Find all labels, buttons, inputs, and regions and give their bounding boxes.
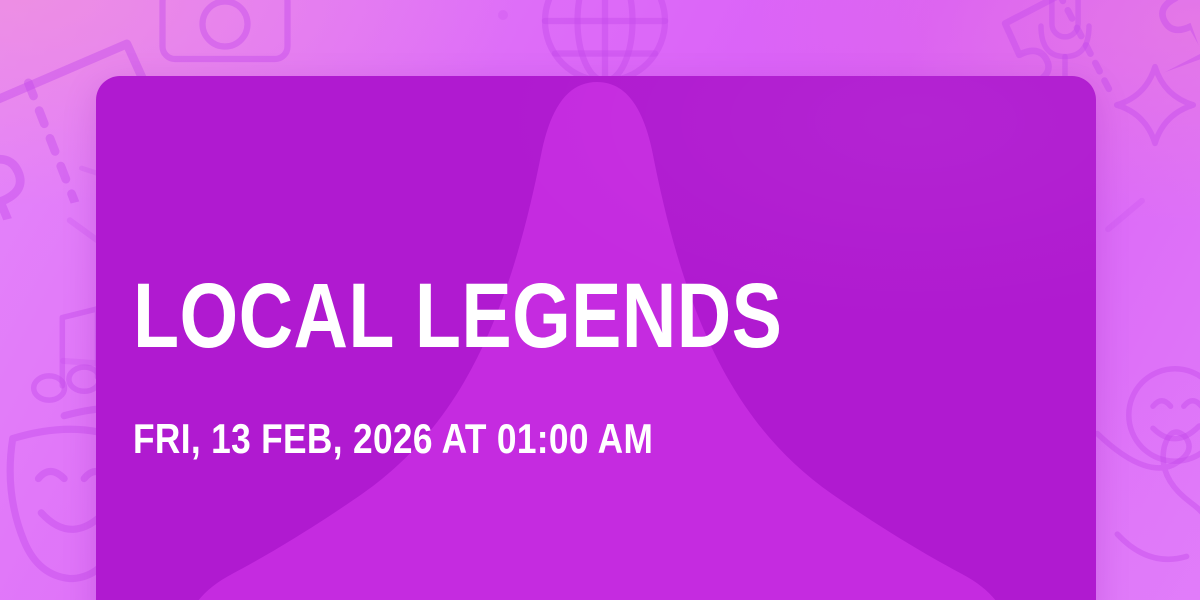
event-datetime: FRI, 13 FEB, 2026 AT 01:00 AM <box>133 418 653 460</box>
event-title: LOCAL LEGENDS <box>133 274 782 359</box>
event-banner: LOCAL LEGENDS FRI, 13 FEB, 2026 AT 01:00… <box>0 0 1200 600</box>
event-card[interactable]: LOCAL LEGENDS FRI, 13 FEB, 2026 AT 01:00… <box>96 76 1096 600</box>
event-text-block: LOCAL LEGENDS FRI, 13 FEB, 2026 AT 01:00… <box>133 76 1056 600</box>
